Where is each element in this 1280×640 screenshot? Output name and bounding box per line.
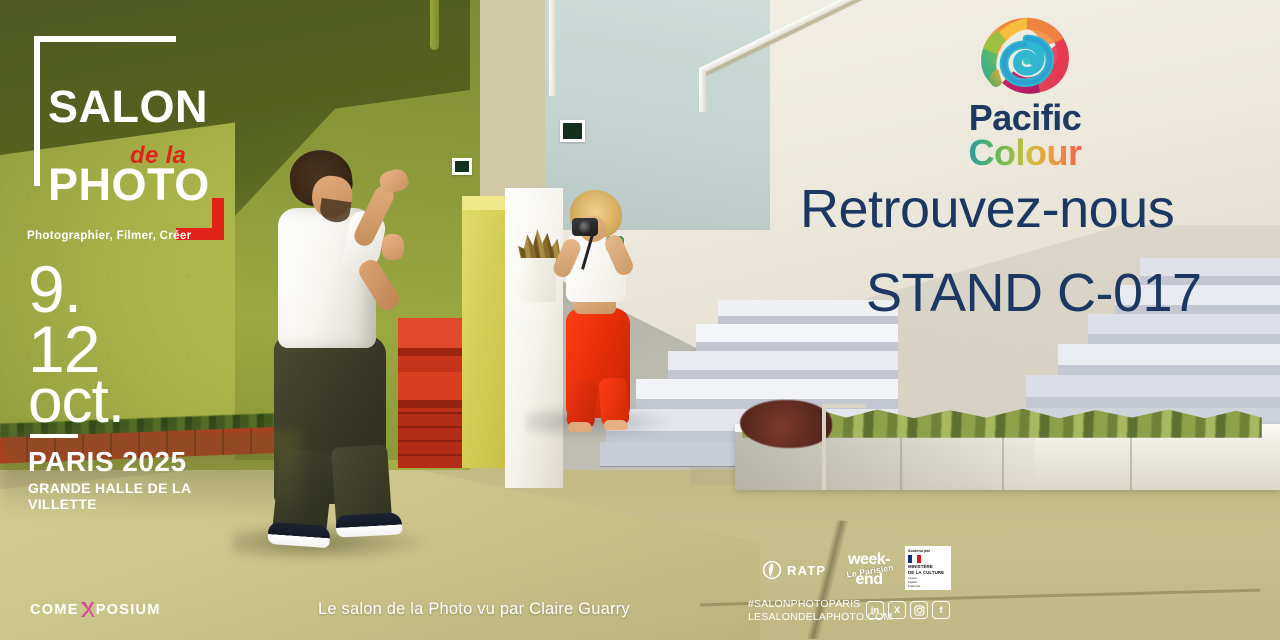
headline-primary: Retrouvez-nous <box>800 182 1174 236</box>
photo-dark-succulent <box>740 400 832 448</box>
logo-line-salon: SALON <box>48 86 208 127</box>
photo-yellow-pillar <box>462 196 510 468</box>
footer-links: #SALONPHOTOPARIS LESALONDELAPHOTO.COM <box>748 598 858 625</box>
pacific-colour-logo: Pacific Colour <box>950 16 1100 171</box>
ministry-title-line-2: DE LA CULTURE <box>908 570 948 576</box>
pacific-wordmark: Pacific <box>950 100 1100 135</box>
french-flag-icon <box>908 555 921 563</box>
logo-line-photo: PHOTO <box>48 164 210 205</box>
instagram-icon[interactable] <box>910 601 928 619</box>
date-day-start: 9. <box>28 262 228 316</box>
salon-photo-logo: SALON de la PHOTO Photographier, Filmer,… <box>26 32 216 242</box>
comexposium-name-right: POSIUM <box>96 602 161 618</box>
headline-stand-number: STAND C-017 <box>866 266 1202 320</box>
footer-hashtag: #SALONPHOTOPARIS <box>748 598 858 611</box>
event-city: PARIS 2025 <box>28 448 228 476</box>
ratp-sponsor-logo: RATP <box>762 560 826 580</box>
photo-handrail <box>700 8 940 128</box>
comexposium-name-left: COME <box>30 602 79 618</box>
social-links: in X f <box>866 601 950 619</box>
photo-planter-pole <box>822 404 826 490</box>
nautilus-shell-icon <box>977 16 1073 98</box>
photo-planter-pole-arm <box>822 404 866 408</box>
colour-wordmark: Colour <box>950 135 1100 171</box>
event-date-block: 9. 12 oct. PARIS 2025 GRANDE HALLE DE LA… <box>28 262 228 512</box>
weekend-le-parisien-logo: week- end Le Parisien <box>843 553 895 589</box>
footer-website[interactable]: LESALONDELAPHOTO.COM <box>748 611 858 624</box>
logo-tagline: Photographier, Filmer, Créer <box>27 230 191 242</box>
photo-wall-hook <box>430 0 439 50</box>
ministry-motto: Liberté Égalité Fraternité <box>908 577 948 588</box>
ministry-of-culture-logo: Soutenu par MINISTÈRE DE LA CULTURE Libe… <box>905 546 951 590</box>
x-ribbon-icon <box>80 601 95 618</box>
ratp-label: RATP <box>787 563 826 578</box>
facebook-icon[interactable]: f <box>932 601 950 619</box>
date-month: oct. <box>28 374 228 430</box>
photo-credit-caption: Le salon de la Photo vu par Claire Guarr… <box>318 600 630 619</box>
salon-photo-poster: SALON de la PHOTO Photographier, Filmer,… <box>0 0 1280 640</box>
photo-wall-pipe <box>549 0 556 96</box>
comexposium-logo: COME POSIUM <box>30 601 161 618</box>
event-venue: GRANDE HALLE DE LA VILLETTE <box>28 480 228 512</box>
photo-wall-vent-large <box>560 120 585 142</box>
x-twitter-icon[interactable]: X <box>888 601 906 619</box>
ratp-logo-icon <box>762 560 782 580</box>
photo-yellow-pillar-cap <box>462 196 510 210</box>
photo-person-woman <box>548 190 658 430</box>
linkedin-icon[interactable]: in <box>866 601 884 619</box>
photo-wall-vent-small <box>452 158 472 175</box>
ministry-supported-by: Soutenu par <box>908 549 948 553</box>
